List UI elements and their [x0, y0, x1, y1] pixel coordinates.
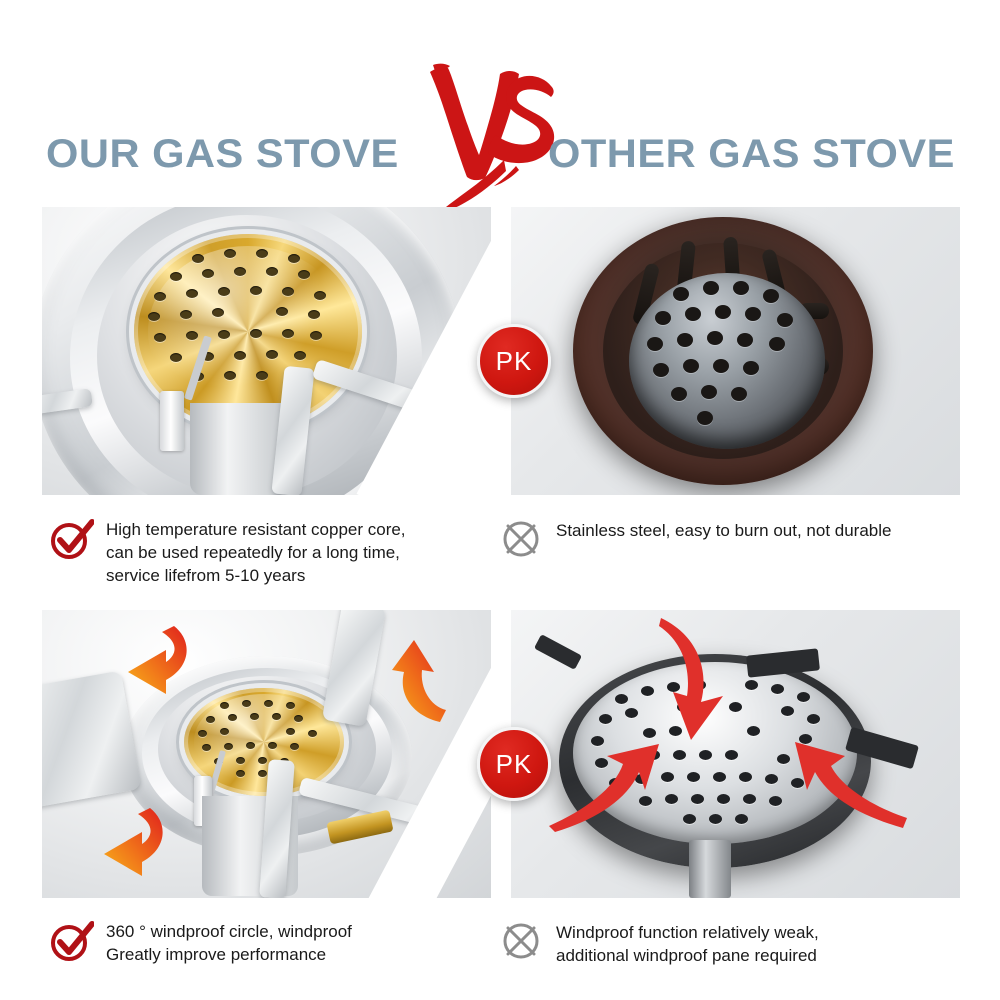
pk-badge-label: PK — [496, 348, 533, 374]
burner-hole — [218, 287, 230, 296]
burner-hole — [234, 267, 246, 276]
burner-hole — [212, 308, 224, 317]
burnt-hole — [647, 337, 663, 351]
burnt-hole — [655, 311, 671, 325]
header: OUR GAS STOVE OTHER GAS STOVE — [0, 60, 1000, 160]
burner-hole — [148, 312, 160, 321]
caption-text: High temperature resistant copper core, … — [106, 516, 406, 587]
open-burner-photo — [511, 610, 960, 898]
burner-hole — [298, 270, 310, 279]
check-circle-icon — [48, 918, 94, 964]
burner-hole — [308, 310, 320, 319]
wind-arrow — [128, 626, 187, 694]
burner-hole — [218, 330, 230, 339]
burnt-hole — [731, 387, 747, 401]
wind-arrow — [104, 808, 163, 876]
wind-arrows-ours — [42, 610, 491, 898]
page-title-ours: OUR GAS STOVE — [46, 132, 399, 177]
photo-theirs-row2 — [511, 610, 960, 898]
cross-circle-icon — [498, 918, 544, 964]
burnt-hole — [763, 289, 779, 303]
burner-hole — [154, 333, 166, 342]
burner-hole — [250, 286, 262, 295]
wind-arrow — [795, 742, 907, 828]
pk-badge-row1: PK — [477, 324, 551, 398]
cross-circle-icon — [498, 516, 544, 562]
burner-hole — [170, 353, 182, 362]
burner-hole — [266, 267, 278, 276]
photo-theirs-row1 — [511, 207, 960, 495]
burner-hole — [186, 289, 198, 298]
burner-hole — [310, 331, 322, 340]
burnt-hole — [715, 305, 731, 319]
photo-ours-row1 — [42, 207, 491, 495]
page-title-theirs: OTHER GAS STOVE — [548, 132, 955, 177]
burner-hole — [250, 329, 262, 338]
burnt-hole — [685, 307, 701, 321]
burnt-burner-photo — [511, 207, 960, 495]
comparison-row-1: PK — [42, 207, 960, 495]
burner-hole — [170, 272, 182, 281]
wind-arrow — [392, 640, 446, 722]
burner-hole — [202, 269, 214, 278]
burner-hole — [282, 329, 294, 338]
burner-hole — [192, 254, 204, 263]
burnt-hole — [743, 361, 759, 375]
wind-arrow — [549, 744, 659, 832]
wind-arrows-theirs — [511, 610, 960, 898]
burner-hole — [256, 249, 268, 258]
infographic-page: OUR GAS STOVE OTHER GAS STOVE — [0, 0, 1000, 1000]
burner-hole — [266, 350, 278, 359]
burnt-hole — [737, 333, 753, 347]
check-circle-icon — [48, 516, 94, 562]
pk-badge-label: PK — [496, 751, 533, 777]
caption-theirs-row2: Windproof function relatively weak, addi… — [498, 918, 948, 967]
burnt-hole — [653, 363, 669, 377]
burnt-hole — [777, 313, 793, 327]
burnt-hole — [701, 385, 717, 399]
burner-hole — [294, 351, 306, 360]
caption-text: Stainless steel, easy to burn out, not d… — [556, 516, 891, 542]
burnt-hole — [745, 307, 761, 321]
burner-hole — [288, 254, 300, 263]
burner-stem — [190, 403, 284, 495]
burnt-hole — [713, 359, 729, 373]
burnt-hole — [677, 333, 693, 347]
burner-hole — [256, 371, 268, 380]
burner-hole — [154, 292, 166, 301]
burnt-hole — [733, 281, 749, 295]
burner-hole — [314, 291, 326, 300]
burnt-hole — [769, 337, 785, 351]
burner-hole — [224, 371, 236, 380]
burnt-hole — [673, 287, 689, 301]
pk-badge-row2: PK — [477, 727, 551, 801]
burner-hole — [276, 307, 288, 316]
ignitor-electrode — [160, 391, 184, 451]
burner-hole — [234, 351, 246, 360]
stove-photo-gold-core — [42, 207, 491, 495]
burner-hole — [224, 249, 236, 258]
stove-photo-windproof — [42, 610, 491, 898]
caption-text: Windproof function relatively weak, addi… — [556, 918, 819, 967]
burnt-hole — [707, 331, 723, 345]
burner-hole — [186, 331, 198, 340]
burnt-hole — [671, 387, 687, 401]
burnt-hole — [683, 359, 699, 373]
burnt-hole — [697, 411, 713, 425]
caption-theirs-row1: Stainless steel, easy to burn out, not d… — [498, 516, 948, 562]
burnt-hole — [703, 281, 719, 295]
comparison-row-2: PK — [42, 610, 960, 898]
photo-ours-row2 — [42, 610, 491, 898]
caption-text: 360 ° windproof circle, windproof Greatl… — [106, 918, 352, 966]
caption-ours-row2: 360 ° windproof circle, windproof Greatl… — [48, 918, 478, 966]
wind-arrow — [659, 618, 723, 740]
burner-hole — [180, 310, 192, 319]
caption-ours-row1: High temperature resistant copper core, … — [48, 516, 478, 587]
burner-hole — [282, 287, 294, 296]
